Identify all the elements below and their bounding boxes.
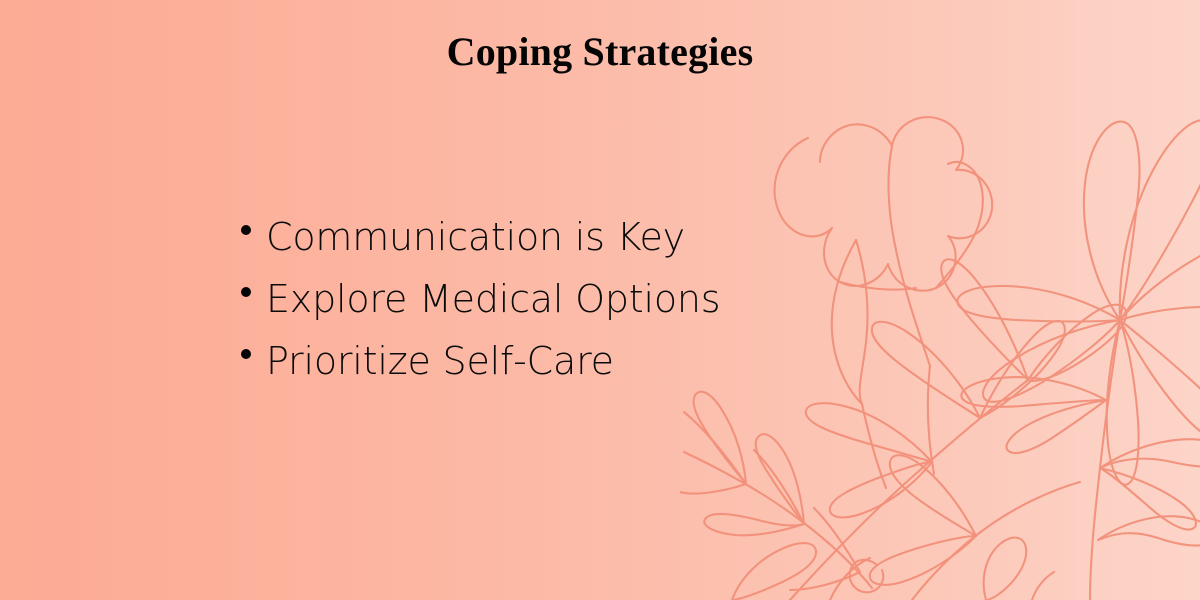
list-item: Prioritize Self-Care — [232, 338, 720, 400]
list-item-label: Prioritize Self-Care — [266, 338, 614, 384]
list-item: Explore Medical Options — [232, 276, 720, 338]
page-title: Coping Strategies — [0, 28, 1200, 76]
leafy-branch-lower — [790, 259, 1126, 600]
pointed-leaf — [832, 240, 886, 488]
radiating-flower — [957, 120, 1200, 600]
small-bud — [850, 560, 884, 592]
list-item-label: Communication is Key — [266, 214, 685, 260]
flower-stem-leaves — [961, 377, 1200, 545]
edge-leaves-bottom — [732, 538, 1054, 600]
leafy-sprig-left — [680, 392, 872, 590]
list-item: Communication is Key — [232, 214, 720, 276]
bullet-marker-icon — [232, 239, 266, 249]
bullet-marker-icon — [232, 301, 266, 311]
list-item-label: Explore Medical Options — [266, 276, 720, 322]
leafy-branch-bottom — [870, 455, 1080, 600]
bullet-marker-icon — [232, 363, 266, 373]
rose-line-drawing — [775, 117, 993, 474]
slide-canvas: Coping Strategies Communication is Key E… — [0, 0, 1200, 600]
bullet-list: Communication is Key Explore Medical Opt… — [232, 214, 720, 400]
botanical-line-art — [680, 0, 1200, 600]
